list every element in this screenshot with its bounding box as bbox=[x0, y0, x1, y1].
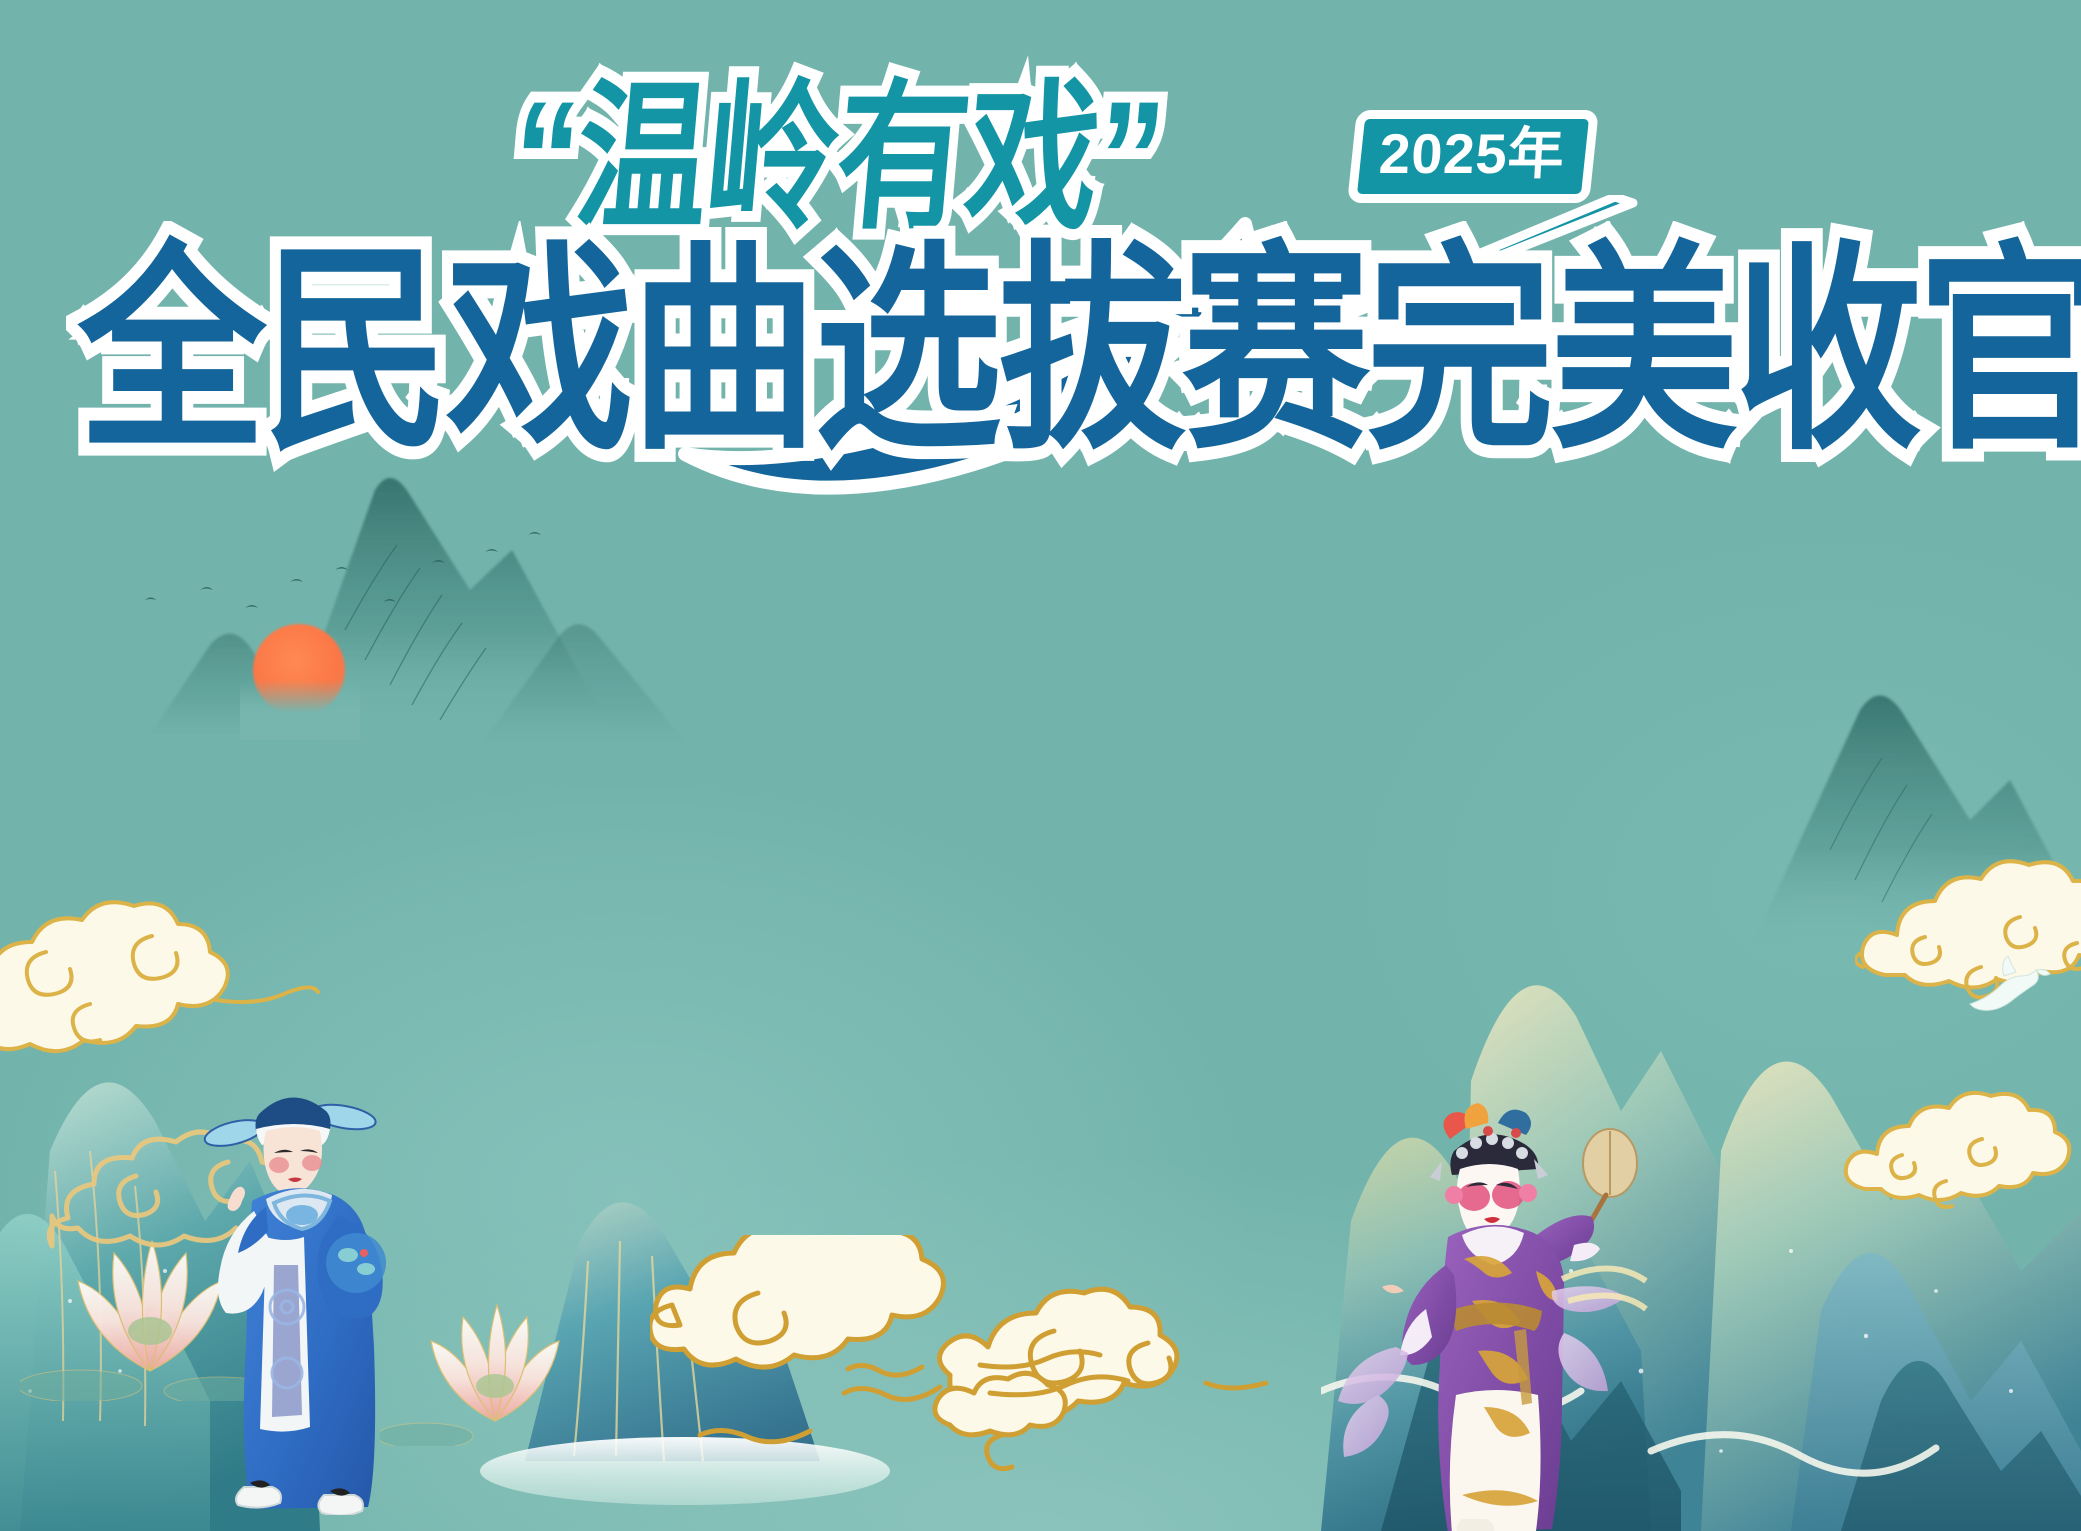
flying-crane-icon bbox=[1962, 952, 2052, 1022]
title-block: “温岭有戏” 2025年 全民戏曲选拔赛完美收官 bbox=[0, 0, 2081, 470]
opera-actress-female-icon bbox=[1338, 1095, 1648, 1531]
auspicious-cloud-center-icon bbox=[650, 1235, 1270, 1495]
opera-actor-male-icon bbox=[148, 1055, 448, 1515]
title-line-1-text: “温岭有戏” bbox=[506, 78, 1168, 239]
title-line-1: “温岭有戏” bbox=[520, 78, 1168, 210]
auspicious-cloud-right-lower-icon bbox=[1840, 1085, 2081, 1255]
sun-haze-mask bbox=[240, 680, 360, 740]
year-badge-text: 2025年 bbox=[1378, 125, 1567, 184]
ink-wash-mountain-left-icon bbox=[140, 430, 760, 770]
title-line-2-text: 全民戏曲选拔赛完美收官 bbox=[78, 240, 2081, 462]
year-badge: 2025年 bbox=[1347, 110, 1598, 203]
title-line-2: 全民戏曲选拔赛完美收官 bbox=[78, 240, 2081, 428]
poster-canvas: “温岭有戏” 2025年 全民戏曲选拔赛完美收官 bbox=[0, 0, 2081, 1531]
